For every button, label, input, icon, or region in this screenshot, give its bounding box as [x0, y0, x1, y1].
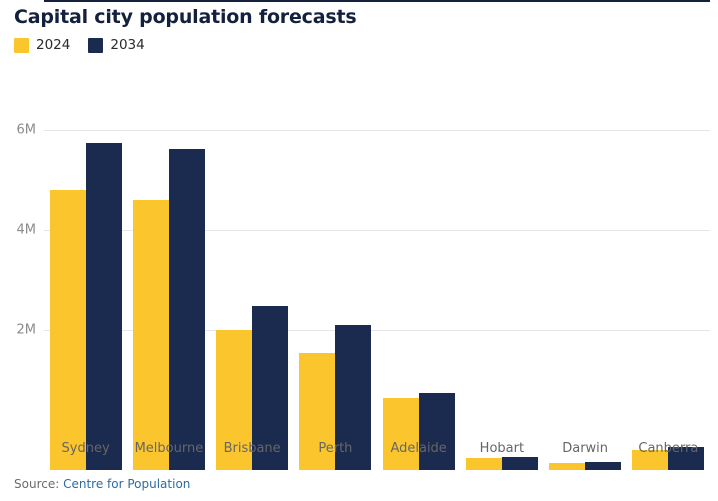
x-axis-tick-label: Hobart — [480, 441, 524, 456]
x-axis-tick-label: Brisbane — [224, 441, 281, 456]
x-axis-tick-label: Darwin — [562, 441, 608, 456]
x-axis-tick-label: Canberra — [638, 441, 698, 456]
source-link[interactable]: Centre for Population — [63, 477, 190, 491]
chart-container: Capital city population forecasts 2024 2… — [0, 0, 718, 501]
x-axis-tick-label: Perth — [318, 441, 352, 456]
x-axis-baseline — [44, 0, 710, 2]
source-note: Source: Centre for Population — [14, 477, 190, 491]
x-axis-tick-label: Adelaide — [390, 441, 446, 456]
x-axis-tick-label: Melbourne — [135, 441, 204, 456]
source-prefix: Source: — [14, 477, 59, 491]
x-axis-tick-label: Sydney — [62, 441, 110, 456]
axis-labels: SydneyMelbourneBrisbanePerthAdelaideHoba… — [0, 0, 718, 470]
plot-area: 2M4M6M SydneyMelbourneBrisbanePerthAdela… — [0, 0, 718, 470]
